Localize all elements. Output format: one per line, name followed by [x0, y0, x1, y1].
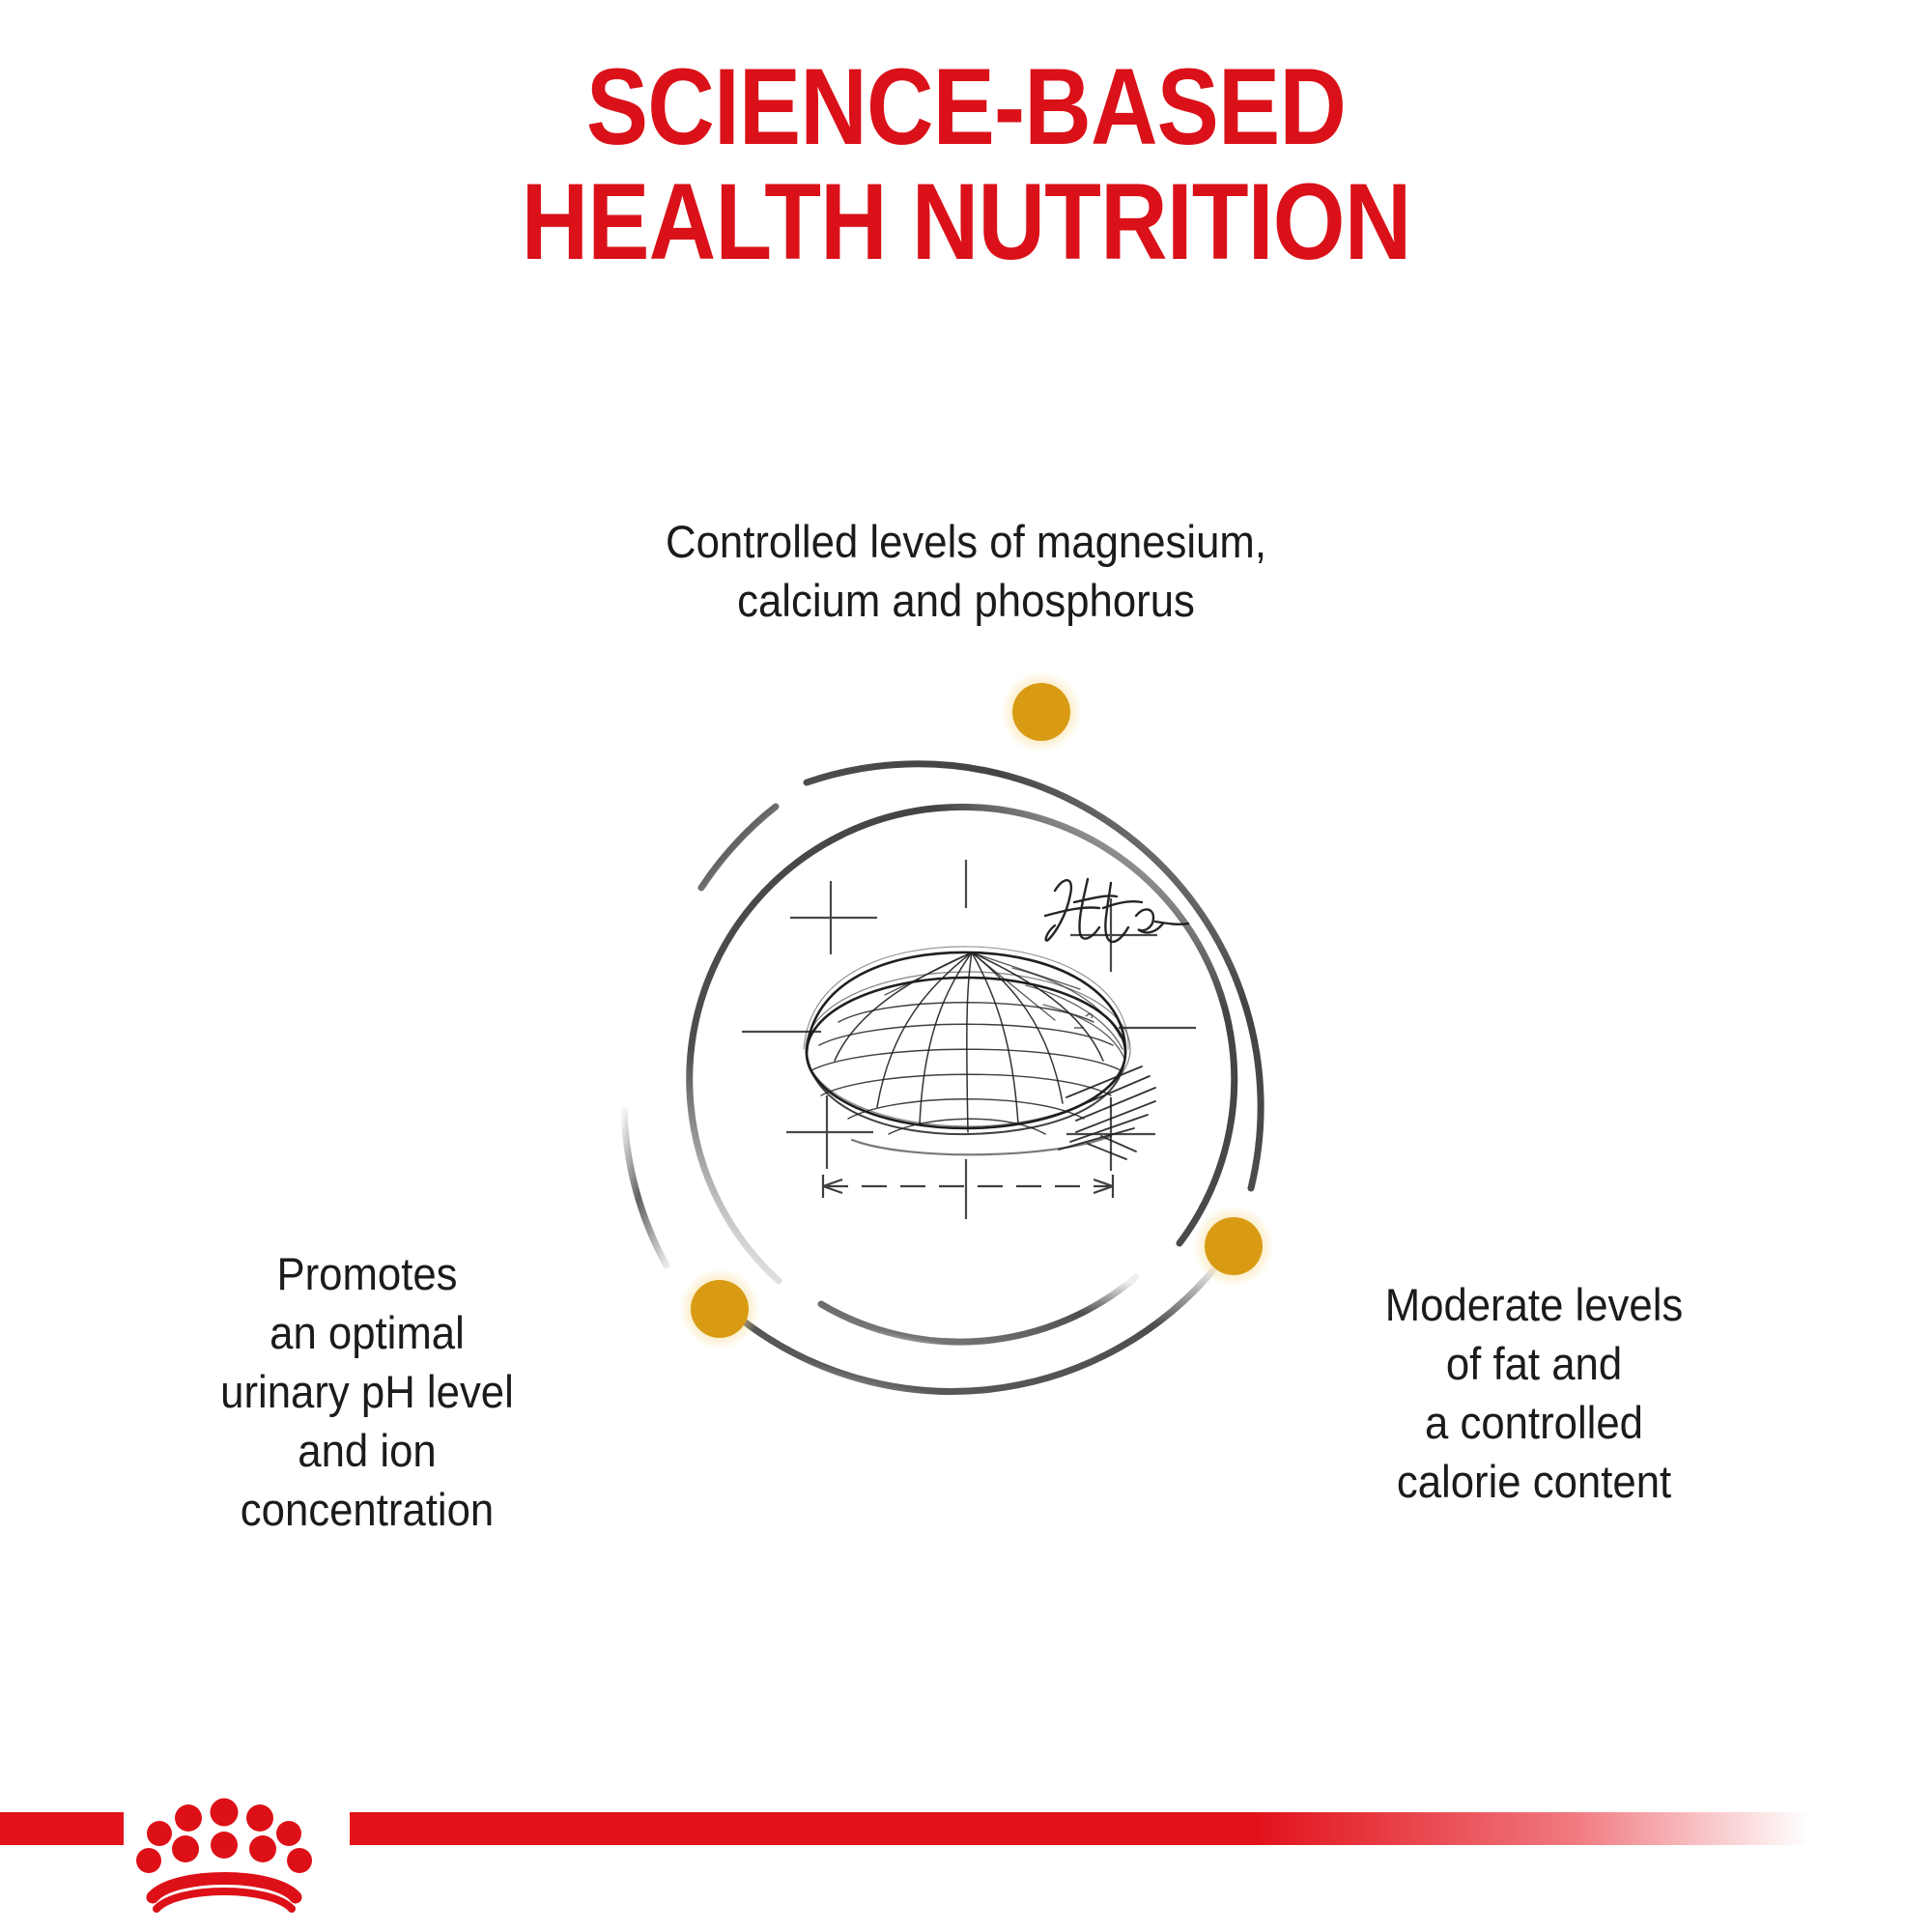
benefit-caption-urinary-ph: Promotes an optimal urinary pH level and…: [125, 1244, 610, 1539]
orbit-dot-top-core: [1012, 683, 1070, 741]
infographic-page: SCIENCE-BASED HEALTH NUTRITION Controlle…: [0, 0, 1932, 1932]
kibble-blueprint-sketch: [742, 860, 1196, 1219]
benefit-caption-magnesium: Controlled levels of magnesium, calcium …: [517, 512, 1415, 630]
orbit-diagram: [541, 628, 1391, 1478]
signature-annotation: [1045, 879, 1188, 942]
orbit-dots: [679, 671, 1274, 1350]
orbit-dot-right-core: [1205, 1217, 1263, 1275]
royal-canin-crown-icon: [128, 1776, 321, 1920]
footer-bar-left: [0, 1812, 124, 1845]
page-title: SCIENCE-BASED HEALTH NUTRITION: [0, 50, 1932, 279]
brand-footer: [0, 1787, 1932, 1932]
title-line-2: HEALTH NUTRITION: [135, 165, 1797, 280]
title-line-1: SCIENCE-BASED: [135, 50, 1797, 165]
footer-bar-right: [350, 1812, 1808, 1845]
orbit-dot-bottom-left-core: [691, 1280, 749, 1338]
